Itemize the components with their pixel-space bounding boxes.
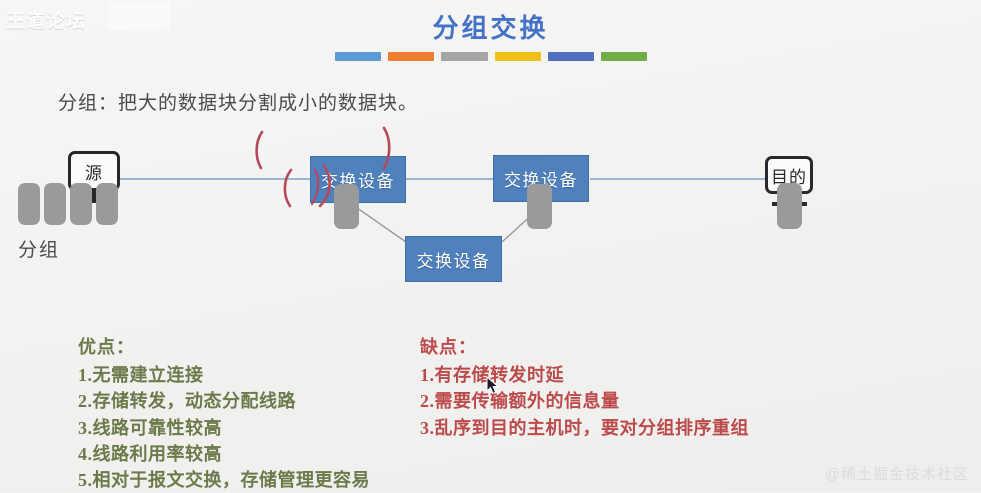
definition-text: 分组：把大的数据块分割成小的数据块。 <box>58 88 418 115</box>
accent-segment-6 <box>601 52 647 61</box>
annotation-strokes <box>248 126 418 216</box>
packet-block-destination <box>777 183 802 229</box>
packets-label: 分组 <box>18 235 60 262</box>
accent-segment-2 <box>388 52 434 61</box>
accent-color-bar <box>335 52 647 61</box>
packet-block <box>70 183 92 225</box>
link-switch2-to-destination <box>590 178 768 180</box>
advantages-heading: 优点： <box>78 333 370 359</box>
packet-block-switch-2 <box>527 184 552 229</box>
source-node-label: 源 <box>85 159 103 184</box>
watermark-bottom-right: @稀土掘金技术社区 <box>825 463 969 484</box>
switch-device-3[interactable]: 交换设备 <box>405 236 502 282</box>
disadvantages-heading: 缺点： <box>420 333 749 359</box>
list-item: 4.线路利用率较高 <box>78 441 370 467</box>
mouse-cursor-icon <box>486 376 499 395</box>
packet-block <box>96 183 118 225</box>
list-item: 2.需要传输额外的信息量 <box>420 388 749 414</box>
advantages-list: 优点： 1.无需建立连接 2.存储转发，动态分配线路 3.线路可靠性较高 4.线… <box>78 333 370 493</box>
packet-block <box>44 183 66 225</box>
list-item: 1.无需建立连接 <box>78 362 370 388</box>
switch-device-3-label: 交换设备 <box>417 247 491 272</box>
link-switch1-to-switch2 <box>406 178 494 180</box>
list-item: 2.存储转发，动态分配线路 <box>78 388 370 414</box>
slide-title: 分组交换 <box>0 8 981 45</box>
list-item: 3.乱序到目的主机时，要对分组排序重组 <box>420 415 749 441</box>
disadvantages-list: 缺点： 1.有存储转发时延 2.需要传输额外的信息量 3.乱序到目的主机时，要对… <box>420 333 749 441</box>
packet-block <box>18 183 40 225</box>
accent-segment-3 <box>441 52 487 61</box>
slide-canvas: 王道论坛 @稀土掘金技术社区 分组交换 分组：把大的数据块分割成小的数据块。 源… <box>0 0 981 492</box>
list-item: 5.相对于报文交换，存储管理更容易 <box>78 467 370 493</box>
accent-segment-1 <box>335 52 381 61</box>
accent-segment-5 <box>548 52 594 61</box>
list-item: 3.线路可靠性较高 <box>78 415 370 441</box>
accent-segment-4 <box>495 52 541 61</box>
list-item: 1.有存储转发时延 <box>420 362 749 388</box>
